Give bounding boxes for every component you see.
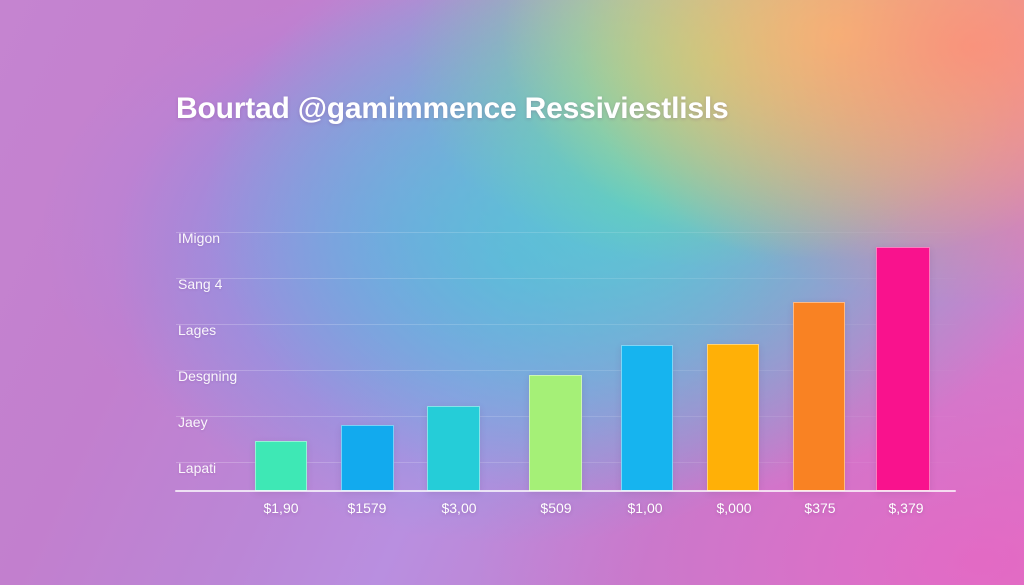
x-axis-line <box>175 490 956 492</box>
x-axis-label-3: $509 <box>540 500 571 516</box>
gridline-2 <box>176 278 956 279</box>
y-axis-label-1: Sang 4 <box>178 276 222 292</box>
bar-0[interactable] <box>255 441 307 491</box>
bar-chart: Bourtad @gamimmence Ressiviestlisls IMig… <box>0 0 1024 585</box>
bar-3[interactable] <box>529 375 582 491</box>
bar-7[interactable] <box>876 247 930 491</box>
bar-6[interactable] <box>793 302 845 491</box>
page-title: Bourtad @gamimmence Ressiviestlisls <box>176 92 728 126</box>
y-axis-label-0: IMigon <box>178 230 220 246</box>
x-axis-label-1: $1579 <box>348 500 387 516</box>
x-axis-label-7: $,379 <box>888 500 923 516</box>
x-axis-label-4: $1,00 <box>627 500 662 516</box>
x-axis-label-2: $3,00 <box>441 500 476 516</box>
bar-2[interactable] <box>427 406 480 491</box>
x-axis-label-6: $375 <box>804 500 835 516</box>
y-axis-label-4: Jaey <box>178 414 208 430</box>
y-axis-label-3: Desgning <box>178 368 237 384</box>
x-axis-label-5: $,000 <box>716 500 751 516</box>
bar-4[interactable] <box>621 345 673 491</box>
x-axis-label-0: $1,90 <box>263 500 298 516</box>
bar-5[interactable] <box>707 344 759 491</box>
y-axis-label-2: Lages <box>178 322 216 338</box>
y-axis-label-5: Lapati <box>178 460 216 476</box>
gridline-1 <box>176 232 956 233</box>
bar-1[interactable] <box>341 425 394 491</box>
